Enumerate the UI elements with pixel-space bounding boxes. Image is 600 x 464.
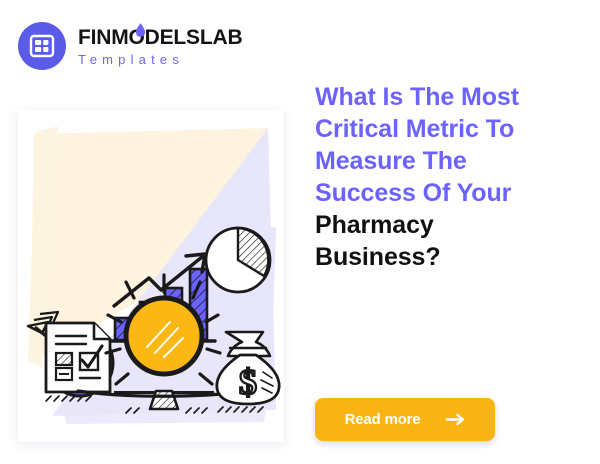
svg-text:$: $ <box>239 362 257 402</box>
headline-line-3: Measure The <box>315 145 585 177</box>
business-analytics-illustration: $ <box>18 110 284 442</box>
illustration-card: $ <box>18 110 284 442</box>
brand-logo[interactable]: FINMODELSLAB Templates <box>18 22 242 70</box>
headline-line-6: Business? <box>315 241 585 273</box>
read-more-label: Read more <box>345 411 421 428</box>
brand-tagline: Templates <box>78 53 242 66</box>
headline-line-5: Pharmacy <box>315 209 585 241</box>
document-checklist-icon <box>46 323 110 401</box>
headline-line-2: Critical Metric To <box>315 113 585 145</box>
pie-chart-icon <box>206 228 270 292</box>
droplet-icon <box>135 23 146 38</box>
headline-line-4: Success Of Your <box>315 177 585 209</box>
grid-logo-icon <box>18 22 66 70</box>
brand-text-block: FINMODELSLAB Templates <box>78 27 242 66</box>
read-more-button[interactable]: Read more <box>315 398 495 441</box>
page-title: What Is The Most Critical Metric To Meas… <box>315 81 585 273</box>
brand-name-label: FINMODELSLAB <box>78 26 242 49</box>
arrow-right-icon <box>446 413 465 426</box>
headline-line-1: What Is The Most <box>315 81 585 113</box>
brand-name: FINMODELSLAB <box>78 27 242 48</box>
